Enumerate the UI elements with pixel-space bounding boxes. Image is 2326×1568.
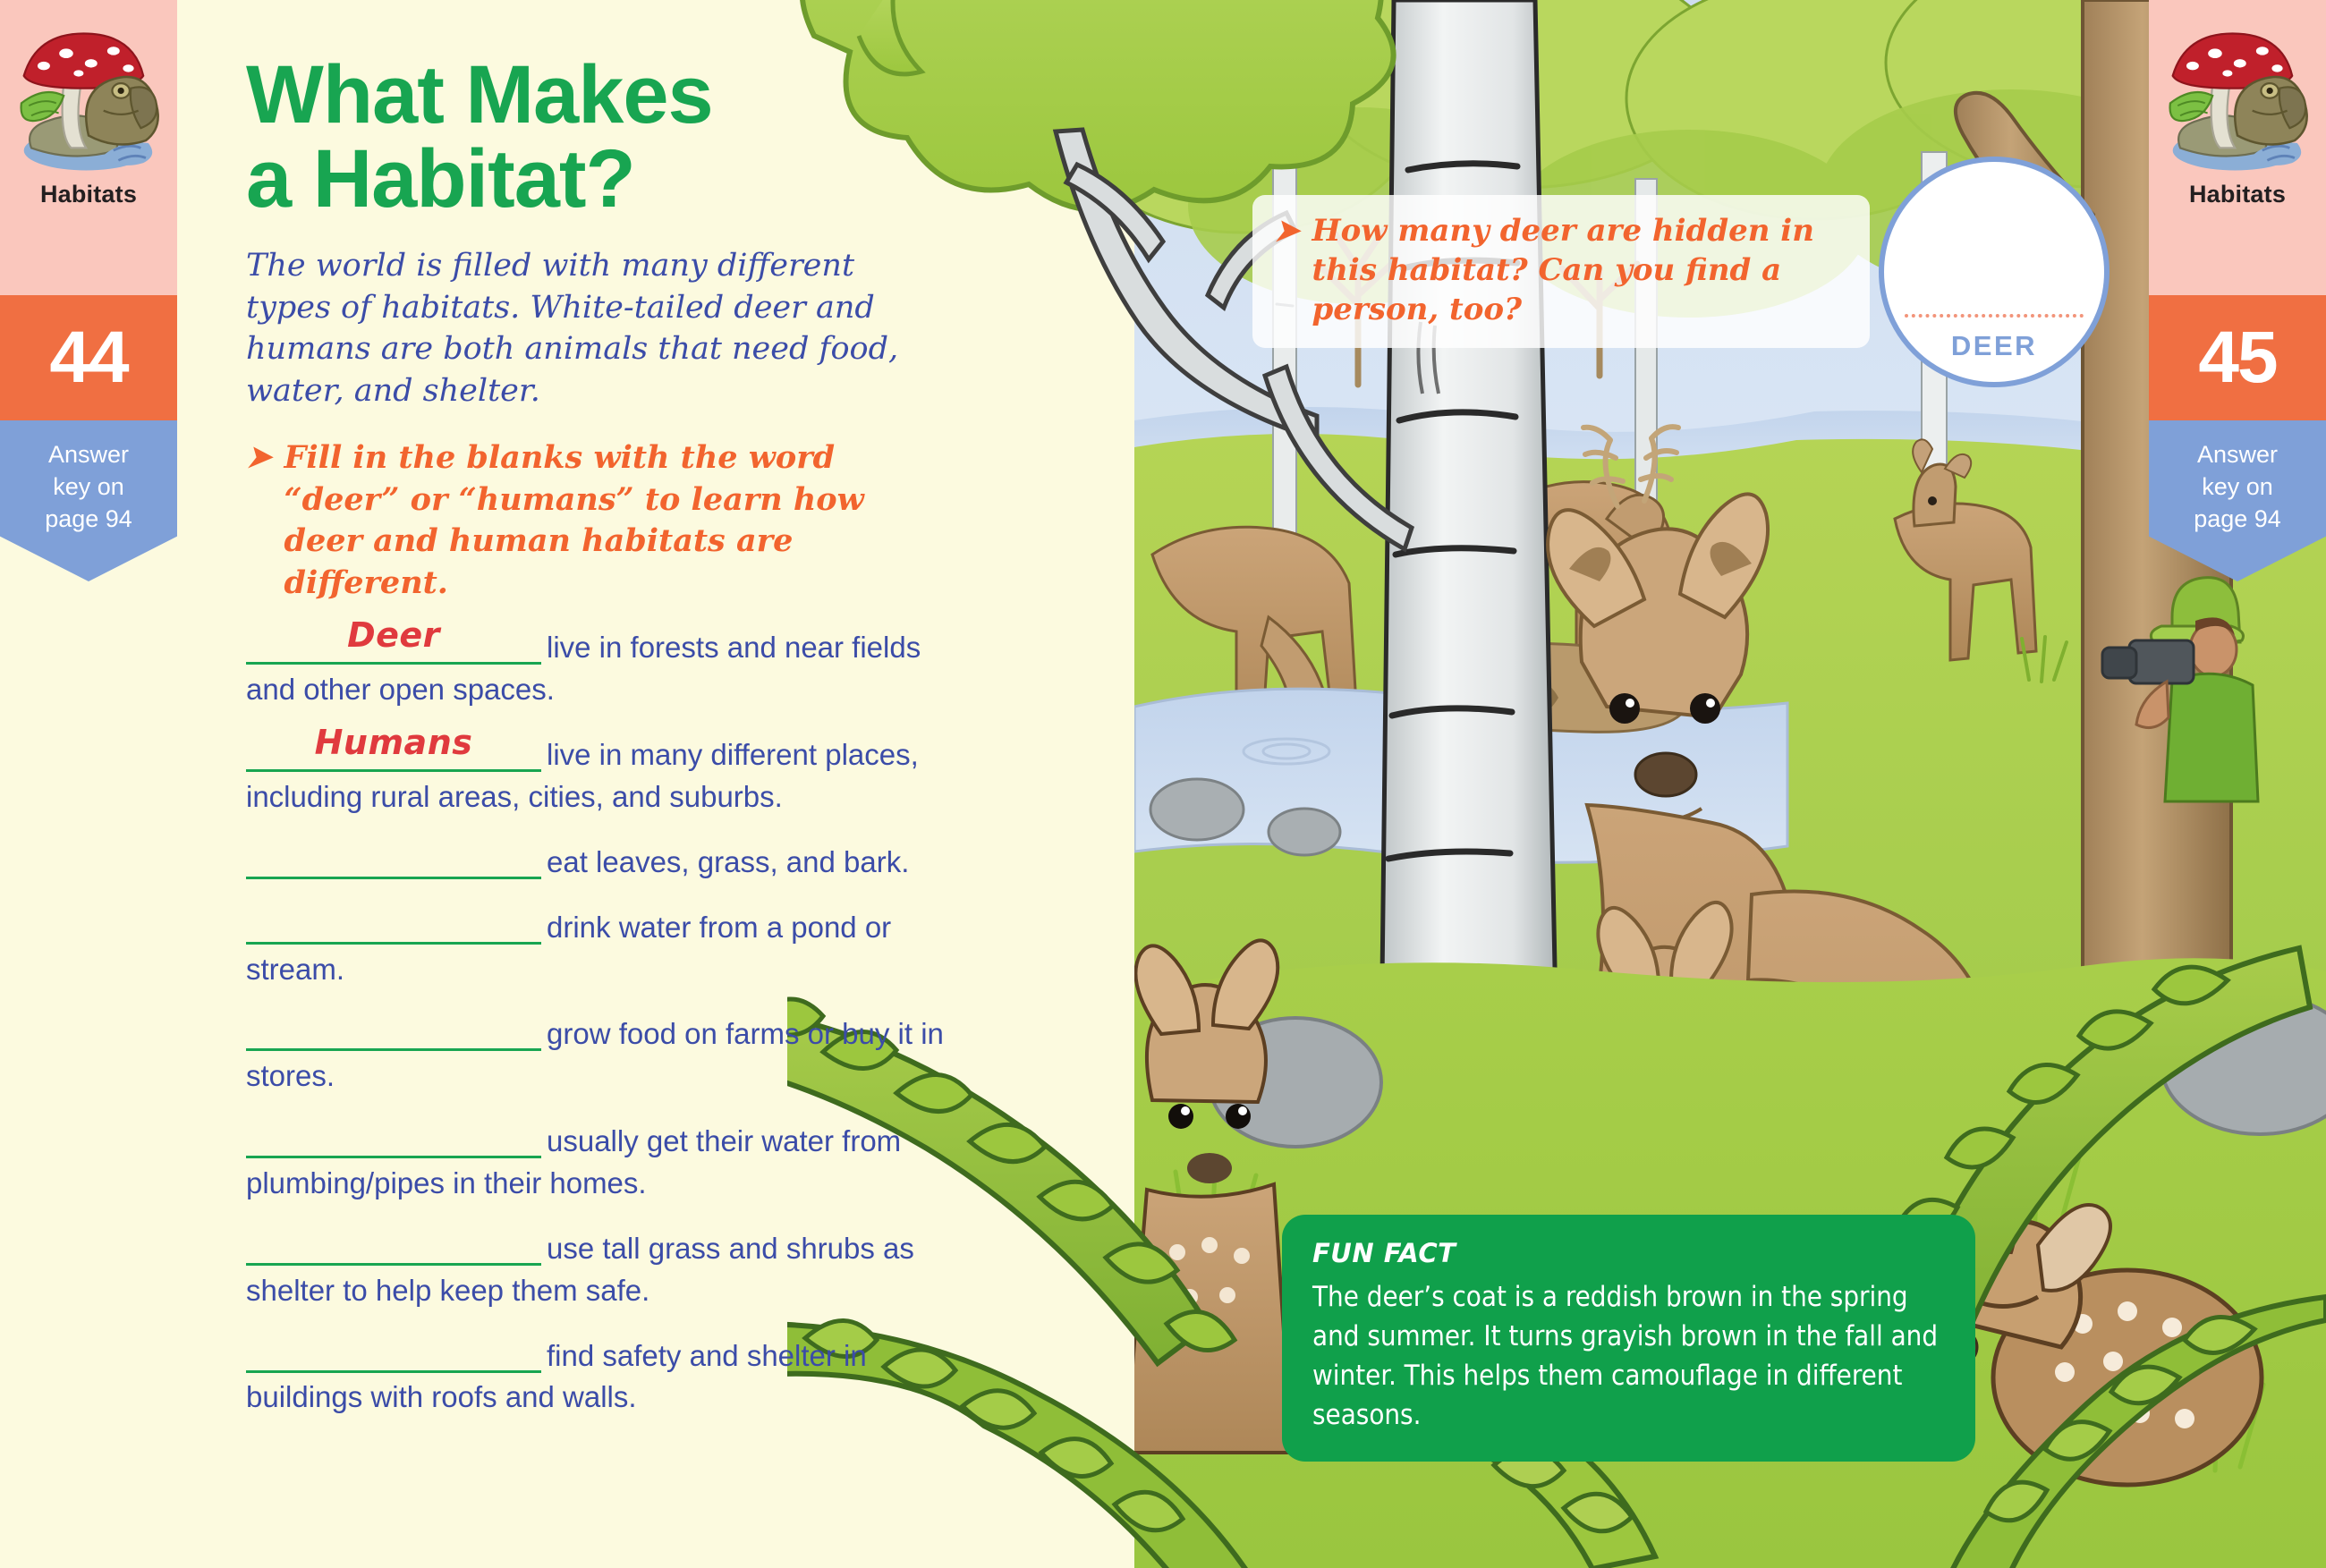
blank-item: eat leaves, grass, and bark. <box>246 842 962 884</box>
find-the-deer-callout: ➤ How many deer are hidden in this habit… <box>1252 195 1870 348</box>
fun-fact-box: FUN FACT The deer’s coat is a reddish br… <box>1282 1215 1975 1462</box>
deer-badge-label: DEER <box>1951 330 2037 362</box>
right-tab-topic: Habitats <box>2149 0 2326 295</box>
blank-sentence-3: eat leaves, grass, and bark. <box>547 845 909 878</box>
right-answer-key-text: Answerkey onpage 94 <box>2194 439 2281 536</box>
birch-tree <box>1381 0 1557 1097</box>
right-page-tab[interactable]: Habitats 45 Answerkey onpage 94 <box>2149 0 2326 581</box>
callout-text: How many deer are hidden in this habitat… <box>1312 211 1849 330</box>
fun-fact-body: The deer’s coat is a reddish brown in th… <box>1312 1277 1945 1435</box>
blank-line-2[interactable]: Humans <box>246 736 541 772</box>
blank-line-6[interactable] <box>246 1123 541 1158</box>
instruction-block: ➤ Fill in the blanks with the word “deer… <box>246 437 953 604</box>
deer-answer-line[interactable] <box>1905 314 2084 318</box>
lesson-text-column: What Makesa Habitat? The world is filled… <box>246 54 980 1442</box>
blank-answer-2: Humans <box>246 719 541 767</box>
blank-line-1[interactable]: Deer <box>246 629 541 665</box>
blank-line-4[interactable] <box>246 909 541 945</box>
blank-answer-1: Deer <box>246 612 541 660</box>
left-tab-label: Habitats <box>40 181 137 208</box>
blank-line-5[interactable] <box>246 1015 541 1051</box>
blank-line-7[interactable] <box>246 1230 541 1266</box>
mushroom-frog-icon <box>2162 16 2313 175</box>
blank-item: drink water from a pond or stream. <box>246 907 962 991</box>
intro-paragraph: The world is filled with many different … <box>246 245 935 413</box>
blank-item: find safety and shelter in buildings wit… <box>246 1335 962 1420</box>
left-page-tab[interactable]: Habitats 44 Answerkey onpage 94 <box>0 0 177 581</box>
right-answer-key-banner: Answerkey onpage 94 <box>2149 420 2326 581</box>
left-answer-key-banner: Answerkey onpage 94 <box>0 420 177 581</box>
blank-line-8[interactable] <box>246 1337 541 1373</box>
right-tab-label: Habitats <box>2189 181 2286 208</box>
arrow-bullet-icon: ➤ <box>246 437 272 604</box>
blank-item: Humanslive in many different places, inc… <box>246 734 962 818</box>
mushroom-frog-icon <box>13 16 164 175</box>
deer-count-badge[interactable]: DEER <box>1879 157 2110 387</box>
left-answer-key-text: Answerkey onpage 94 <box>45 439 132 536</box>
blank-item: usually get their water from plumbing/pi… <box>246 1121 962 1205</box>
left-page-number: 44 <box>0 295 177 420</box>
fill-in-blank-list: Deerlive in forests and near fields and … <box>246 627 980 1419</box>
fun-fact-title: FUN FACT <box>1312 1238 1945 1268</box>
page-title: What Makesa Habitat? <box>246 54 980 222</box>
blank-item: grow food on farms or buy it in stores. <box>246 1013 962 1098</box>
callout-arrow-icon: ➤ <box>1274 211 1300 330</box>
page-spread: Habitats 44 Answerkey onpage 94 <box>0 0 2326 1568</box>
left-tab-topic: Habitats <box>0 0 177 295</box>
blank-item: use tall grass and shrubs as shelter to … <box>246 1228 962 1312</box>
instruction-text: Fill in the blanks with the word “deer” … <box>284 437 954 604</box>
blank-item: Deerlive in forests and near fields and … <box>246 627 962 711</box>
blank-line-3[interactable] <box>246 843 541 879</box>
right-page-number: 45 <box>2149 295 2326 420</box>
